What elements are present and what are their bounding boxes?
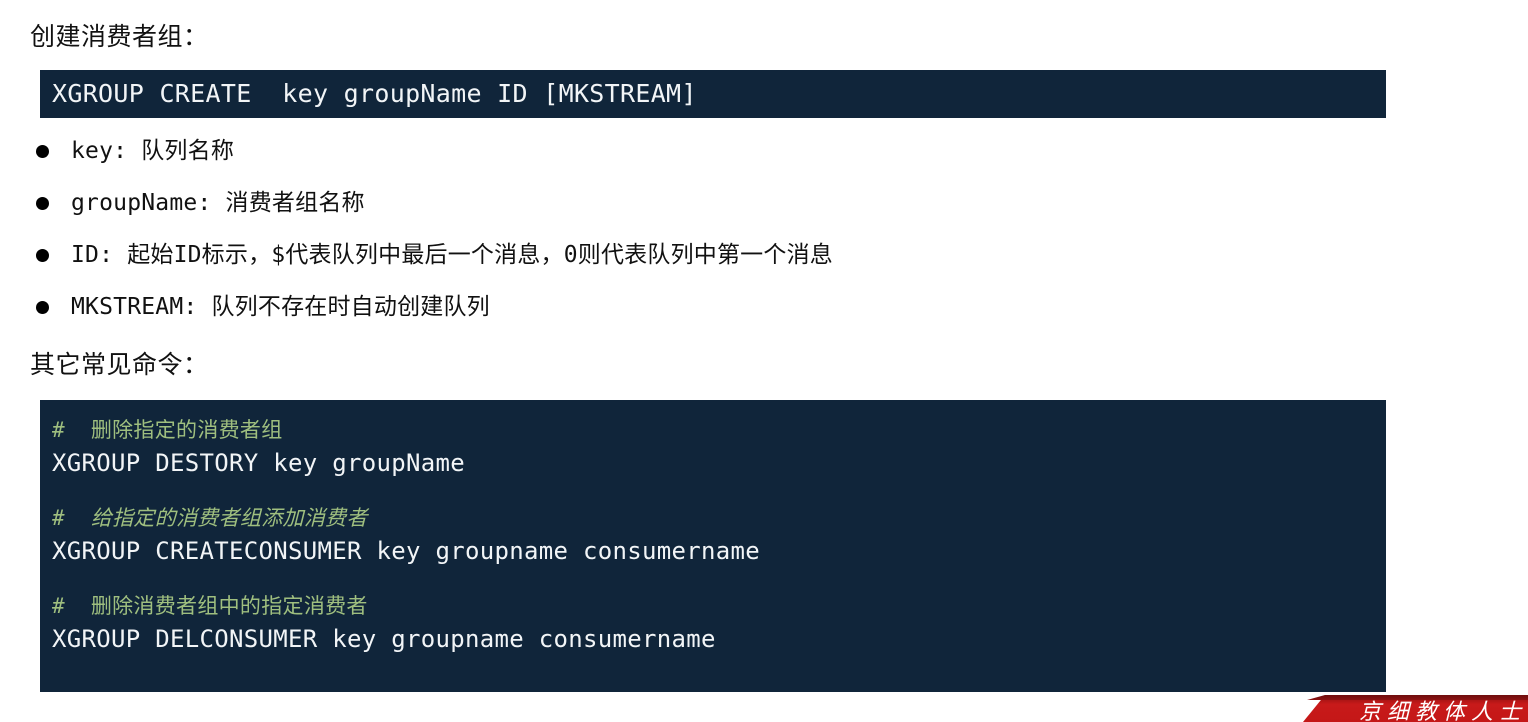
parameter-list: key: 队列名称 groupName: 消费者组名称 ID: 起始ID标示，$…: [36, 132, 1436, 340]
code-blank-line: [52, 568, 1386, 590]
list-item-label: groupName: 消费者组名称: [71, 184, 365, 222]
code-line-xgroup-create: XGROUP CREATE key groupName ID [MKSTREAM…: [52, 77, 697, 111]
code-line-xgroup-delconsumer: XGROUP DELCONSUMER key groupname consume…: [52, 622, 1386, 656]
code-comment-create-consumer: # 给指定的消费者组添加消费者: [52, 502, 1386, 534]
bullet-dot-icon: [36, 145, 49, 158]
list-item-mkstream: MKSTREAM: 队列不存在时自动创建队列: [36, 288, 1436, 340]
code-comment-del-consumer: # 删除消费者组中的指定消费者: [52, 590, 1386, 622]
code-block-other-commands: # 删除指定的消费者组 XGROUP DESTORY key groupName…: [40, 400, 1386, 692]
list-item-label: key: 队列名称: [71, 132, 234, 170]
code-block-xgroup-create: XGROUP CREATE key groupName ID [MKSTREAM…: [40, 70, 1386, 118]
list-item-label: ID: 起始ID标示，$代表队列中最后一个消息，0则代表队列中第一个消息: [71, 236, 833, 274]
list-item-key: key: 队列名称: [36, 132, 1436, 184]
page-title-other-commands: 其它常见命令：: [30, 350, 209, 380]
code-blank-line: [52, 480, 1386, 502]
bullet-dot-icon: [36, 197, 49, 210]
list-item-id: ID: 起始ID标示，$代表队列中最后一个消息，0则代表队列中第一个消息: [36, 236, 1436, 288]
list-item-label: MKSTREAM: 队列不存在时自动创建队列: [71, 288, 490, 326]
code-line-xgroup-destory: XGROUP DESTORY key groupName: [52, 446, 1386, 480]
list-item-groupname: groupName: 消费者组名称: [36, 184, 1436, 236]
page-title-create-consumer-group: 创建消费者组：: [30, 22, 209, 52]
watermark-ribbon: 京细教体人士: [1303, 695, 1528, 722]
bullet-dot-icon: [36, 249, 49, 262]
code-comment-destroy-group: # 删除指定的消费者组: [52, 414, 1386, 446]
slide-page: 创建消费者组： XGROUP CREATE key groupName ID […: [0, 0, 1528, 722]
ribbon-label: 京细教体人士: [1359, 701, 1527, 722]
code-line-xgroup-createconsumer: XGROUP CREATECONSUMER key groupname cons…: [52, 534, 1386, 568]
bullet-dot-icon: [36, 301, 49, 314]
